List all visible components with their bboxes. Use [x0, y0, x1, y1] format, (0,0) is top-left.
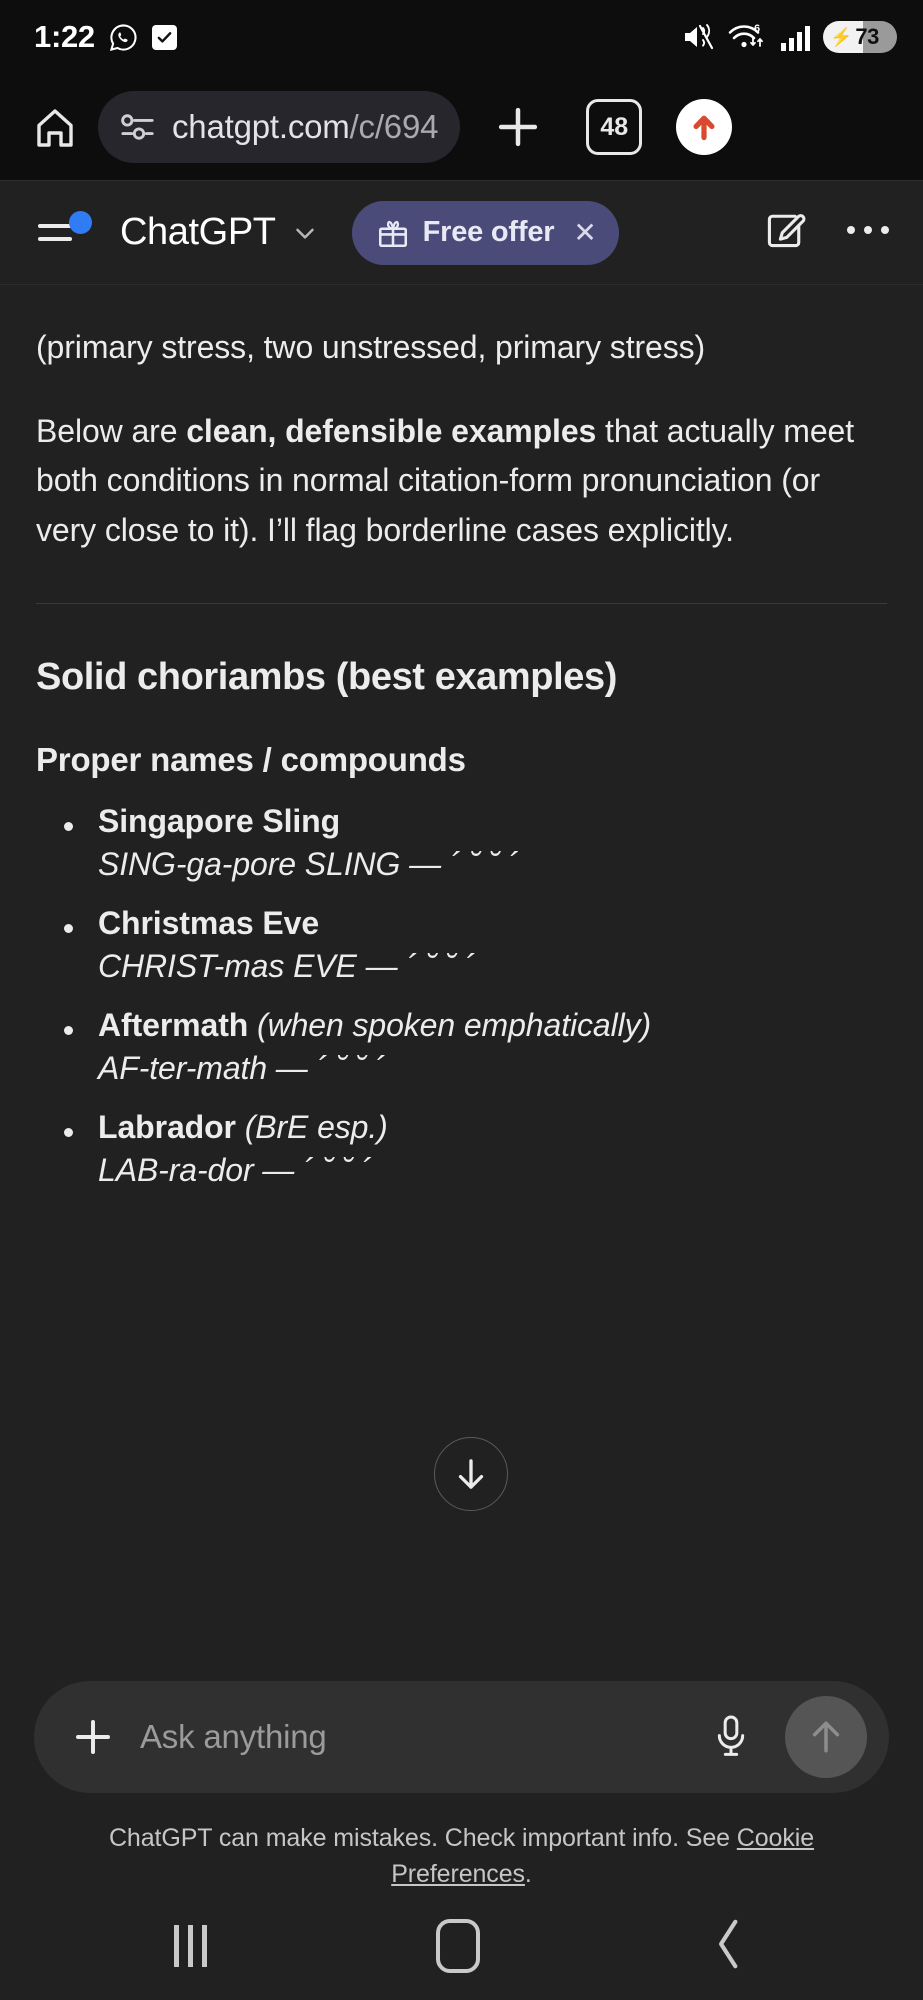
sidebar-toggle-icon-bar2 [38, 237, 72, 241]
home-button[interactable] [22, 94, 88, 160]
header-actions [763, 208, 891, 257]
example-name: Christmas Eve [98, 905, 319, 941]
example-name: Aftermath [98, 1007, 248, 1043]
tab-switcher-button[interactable]: 48 [586, 99, 642, 155]
message-paragraph-1: (primary stress, two unstressed, primary… [36, 323, 887, 373]
battery-charging-icon: ⚡ [830, 28, 852, 46]
free-offer-pill[interactable]: Free offer ✕ [352, 201, 619, 265]
arrow-up-icon [804, 1715, 848, 1759]
paragraph-text: (primary stress, two unstressed, primary… [36, 329, 705, 365]
disclaimer-tail: . [525, 1860, 532, 1888]
profile-upload-button[interactable] [676, 99, 732, 155]
voice-input-button[interactable] [703, 1709, 759, 1765]
new-chat-compose-icon [763, 208, 807, 252]
list-item: Aftermath (when spoken emphatically) AF-… [36, 1007, 887, 1087]
disclaimer-text: ChatGPT can make mistakes. Check importa… [34, 1793, 889, 1892]
back-nav-icon [709, 1917, 749, 1971]
disclaimer-lead: ChatGPT can make mistakes. Check importa… [109, 1824, 737, 1852]
profile-upload-icon [683, 106, 725, 148]
wifi-6-icon: 6 [727, 21, 769, 53]
new-chat-button[interactable] [763, 208, 807, 257]
example-note: (when spoken emphatically) [257, 1007, 651, 1043]
list-item-title: Singapore Sling [98, 803, 887, 840]
free-offer-label: Free offer [423, 216, 555, 249]
status-time: 1:22 [34, 19, 95, 55]
url-path: /c/694 [350, 108, 439, 145]
close-icon[interactable]: ✕ [573, 216, 596, 249]
composer-container: Ask anything ChatGPT can make mistakes. … [0, 1681, 923, 1892]
recents-button[interactable] [174, 1925, 207, 1967]
volume-mute-icon [682, 22, 716, 52]
more-options-button[interactable] [845, 221, 891, 244]
page-title: ChatGPT [120, 211, 276, 254]
sidebar-toggle-icon [38, 224, 72, 228]
back-nav-button[interactable] [709, 1917, 749, 1976]
example-scansion: SING-ga-pore SLING — ´ ˘ ˘ ´ [98, 846, 887, 883]
list-item-title: Aftermath (when spoken emphatically) [98, 1007, 887, 1044]
chevron-down-icon [290, 218, 320, 248]
attach-button[interactable] [64, 1708, 122, 1766]
home-nav-button[interactable] [436, 1919, 480, 1973]
gift-icon [376, 216, 410, 250]
recents-icon [174, 1925, 179, 1967]
status-bar-right: 6 ⚡ 73 [682, 21, 897, 53]
app-header: ChatGPT Free offer ✕ [0, 181, 923, 285]
new-tab-button[interactable] [482, 91, 554, 163]
send-button[interactable] [785, 1696, 867, 1778]
recents-icon-bar2 [188, 1925, 193, 1967]
example-scansion: CHRIST-mas EVE — ´ ˘ ˘ ´ [98, 948, 887, 985]
url-text: chatgpt.com/c/694 [172, 108, 438, 146]
microphone-icon [711, 1713, 751, 1761]
example-name: Singapore Sling [98, 803, 340, 839]
example-name: Labrador [98, 1109, 236, 1145]
paragraph-text: Below are [36, 413, 186, 449]
list-item-title: Christmas Eve [98, 905, 887, 942]
message-composer[interactable]: Ask anything [34, 1681, 889, 1793]
section-heading: Solid choriambs (best examples) [36, 656, 887, 699]
example-scansion: AF-ter-math — ´ ˘ ˘ ´ [98, 1050, 887, 1087]
more-options-icon [845, 221, 891, 239]
example-scansion: LAB-ra-dor — ´ ˘ ˘ ´ [98, 1152, 887, 1189]
svg-text:6: 6 [754, 23, 760, 35]
message-paragraph-2: Below are clean, defensible examples tha… [36, 407, 887, 556]
url-domain: chatgpt.com [172, 108, 350, 145]
status-bar: 1:22 6 [0, 0, 923, 74]
whatsapp-icon [109, 23, 138, 52]
examples-list: Singapore Sling SING-ga-pore SLING — ´ ˘… [36, 803, 887, 1189]
arrow-down-icon [450, 1453, 492, 1495]
message-input[interactable]: Ask anything [140, 1718, 685, 1756]
browser-toolbar: chatgpt.com/c/694 48 [0, 74, 923, 181]
status-bar-left: 1:22 [34, 19, 177, 55]
plus-icon [68, 1712, 118, 1762]
section-divider [36, 603, 887, 604]
paragraph-bold-text: clean, defensible examples [186, 413, 596, 449]
conversation-scroll-area[interactable]: (primary stress, two unstressed, primary… [0, 285, 923, 1681]
scroll-to-bottom-button[interactable] [434, 1437, 508, 1511]
unread-notification-dot [69, 211, 92, 234]
tab-count: 48 [600, 113, 628, 142]
example-note: (BrE esp.) [245, 1109, 388, 1145]
model-selector[interactable]: ChatGPT [120, 211, 320, 254]
list-item: Singapore Sling SING-ga-pore SLING — ´ ˘… [36, 803, 887, 883]
address-bar[interactable]: chatgpt.com/c/694 [98, 91, 460, 163]
section-subheading: Proper names / compounds [36, 741, 887, 779]
cellular-signal-icon [780, 22, 812, 52]
sidebar-toggle-button[interactable] [38, 211, 88, 255]
tasks-check-icon [152, 25, 177, 50]
list-item: Christmas Eve CHRIST-mas EVE — ´ ˘ ˘ ´ [36, 905, 887, 985]
battery-indicator: ⚡ 73 [823, 21, 897, 53]
list-item-title: Labrador (BrE esp.) [98, 1109, 887, 1146]
recents-icon-bar3 [202, 1925, 207, 1967]
android-navigation-bar [0, 1892, 923, 2000]
list-item: Labrador (BrE esp.) LAB-ra-dor — ´ ˘ ˘ ´ [36, 1109, 887, 1189]
battery-percent: 73 [855, 24, 878, 50]
phone-screen: 1:22 6 [0, 0, 923, 2000]
site-settings-icon [120, 112, 158, 142]
